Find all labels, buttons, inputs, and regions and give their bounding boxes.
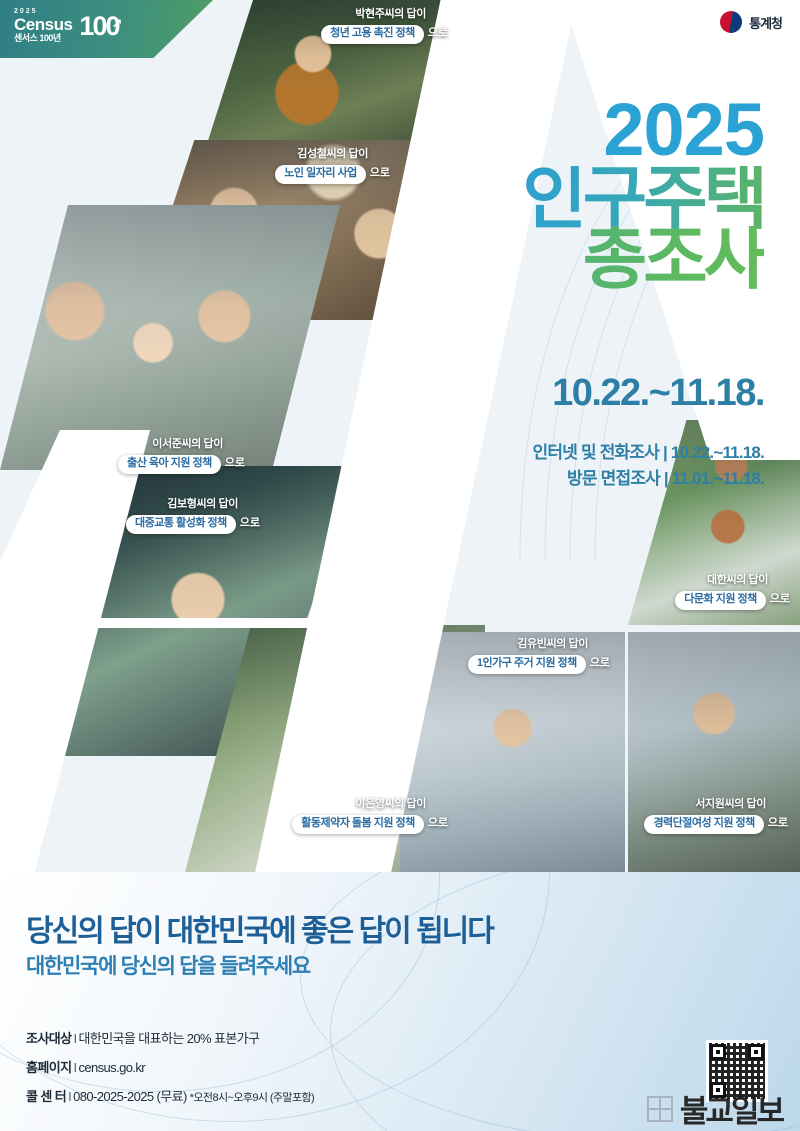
caption-person-youth: 박현주씨의 답이 xyxy=(258,8,448,22)
qr-finder-top-left xyxy=(710,1044,726,1060)
info-row-target: 조사대상Ι대한민국을 대표하는 20% 표본가구 xyxy=(26,1028,314,1047)
qr-finder-top-right xyxy=(748,1044,764,1060)
caption-suffix-family: 으로 xyxy=(225,457,245,471)
info-label-homepage: 홈페이지 xyxy=(26,1060,71,1075)
caption-youth: 박현주씨의 답이 청년 고용 촉진 정책 으로 xyxy=(258,8,448,44)
caption-suffix-bus: 으로 xyxy=(240,517,260,531)
info-row-callcenter: 콜 센 터Ι080-2025-2025 (무료) *오전8시~오후9시 (주말포… xyxy=(26,1086,314,1105)
caption-person-bus: 김보형씨의 답이 xyxy=(40,498,260,512)
caption-suffix-career: 으로 xyxy=(768,817,788,831)
caption-bus: 김보형씨의 답이 대중교통 활성화 정책 으로 xyxy=(40,498,260,534)
caption-person-senior: 김성철씨의 답이 xyxy=(200,148,390,162)
logo-korean-subtitle: 센서스 100년 xyxy=(14,34,72,43)
caption-policy-senior: 노인 일자리 사업 xyxy=(275,165,365,184)
method-line-visit: 방문 면접조사 | 11.01.~11.18. xyxy=(533,466,765,492)
caption-care: 이은영씨의 답이 활동제약자 돌봄 지원 정책 으로 xyxy=(243,798,448,834)
logo-year: 2025 xyxy=(14,8,72,15)
watermark-text: 불교일보 xyxy=(680,1086,782,1131)
title-year: 2025 xyxy=(522,96,764,164)
caption-person-care: 이은영씨의 답이 xyxy=(243,798,448,812)
caption-career: 서지원씨의 답이 경력단절여성 지원 정책 으로 xyxy=(600,798,788,834)
info-label-target: 조사대상 xyxy=(26,1031,71,1046)
census-poster: 박현주씨의 답이 청년 고용 촉진 정책 으로 김성철씨의 답이 노인 일자리 … xyxy=(0,0,800,1131)
caption-policy-bus: 대중교통 활성화 정책 xyxy=(126,515,236,534)
caption-family: 이서준씨의 답이 출산 육아 지원 정책 으로 xyxy=(40,438,245,474)
caption-policy-multi: 다문화 지원 정책 xyxy=(675,591,765,610)
photo-tile-family xyxy=(0,205,340,470)
info-label-callcenter: 콜 센 터 xyxy=(26,1089,66,1104)
photo-image-family xyxy=(0,205,340,470)
caption-senior: 김성철씨의 답이 노인 일자리 사업 으로 xyxy=(200,148,390,184)
watermark: 불교일보 xyxy=(647,1086,782,1131)
anniversary-100-icon: 100↗ xyxy=(79,11,127,42)
caption-suffix-youth: 으로 xyxy=(428,27,448,41)
caption-suffix-multi: 으로 xyxy=(770,593,790,607)
taegeuk-icon xyxy=(720,11,742,33)
info-value-homepage[interactable]: census.go.kr xyxy=(78,1060,145,1075)
caption-policy-career: 경력단절여성 지원 정책 xyxy=(644,815,763,834)
caption-single: 김유빈씨의 답이 1인가구 주거 지원 정책 으로 xyxy=(410,638,610,674)
caption-policy-single: 1인가구 주거 지원 정책 xyxy=(468,655,586,674)
caption-suffix-single: 으로 xyxy=(590,657,610,671)
caption-policy-youth: 청년 고용 촉진 정책 xyxy=(321,25,424,44)
info-value-callcenter: 080-2025-2025 (무료) xyxy=(73,1089,187,1104)
method-line-internet: 인터넷 및 전화조사 | 10.22.~11.18. xyxy=(533,440,765,466)
slogan-sub: 대한민국에 당신의 답을 들려주세요 xyxy=(26,950,310,980)
survey-date-range: 10.22.~11.18. xyxy=(552,372,764,415)
caption-person-career: 서지원씨의 답이 xyxy=(600,798,788,812)
government-logo: 통계청 xyxy=(720,11,782,33)
info-row-homepage: 홈페이지Ιcensus.go.kr xyxy=(26,1057,314,1076)
census-logo: 2025 Census 센서스 100년 100↗ xyxy=(14,8,127,43)
caption-person-multi: 대한씨의 답이 xyxy=(618,574,790,588)
census-logo-text: 2025 Census 센서스 100년 xyxy=(14,8,72,43)
caption-policy-family: 출산 육아 지원 정책 xyxy=(118,455,221,474)
photo-tile-career xyxy=(628,632,800,872)
survey-method-dates: 인터넷 및 전화조사 | 10.22.~11.18. 방문 면접조사 | 11.… xyxy=(533,440,765,493)
caption-suffix-care: 으로 xyxy=(428,817,448,831)
info-note-callcenter: *오전8시~오후9시 (주말포함) xyxy=(190,1092,314,1104)
caption-multi: 대한씨의 답이 다문화 지원 정책 으로 xyxy=(618,574,790,610)
caption-suffix-senior: 으로 xyxy=(370,167,390,181)
info-value-target: 대한민국을 대표하는 20% 표본가구 xyxy=(78,1031,259,1046)
gov-agency-name: 통계청 xyxy=(749,13,782,32)
footer-info-list: 조사대상Ι대한민국을 대표하는 20% 표본가구 홈페이지Ιcensus.go.… xyxy=(26,1028,314,1115)
arrow-swoosh-icon: ↗ xyxy=(111,16,120,31)
slogan-main: 당신의 답이 대한민국에 좋은 답이 됩니다 xyxy=(26,906,493,950)
caption-person-single: 김유빈씨의 답이 xyxy=(410,638,610,652)
watermark-logo-icon xyxy=(647,1096,673,1122)
gap-divider-horizontal xyxy=(0,618,430,628)
caption-policy-care: 활동제약자 돌봄 지원 정책 xyxy=(292,815,424,834)
logo-wordmark: Census xyxy=(14,16,72,33)
caption-person-family: 이서준씨의 답이 xyxy=(40,438,245,452)
photo-image-career xyxy=(628,632,800,872)
page-title: 2025 인구주택 총조사 xyxy=(522,96,764,291)
